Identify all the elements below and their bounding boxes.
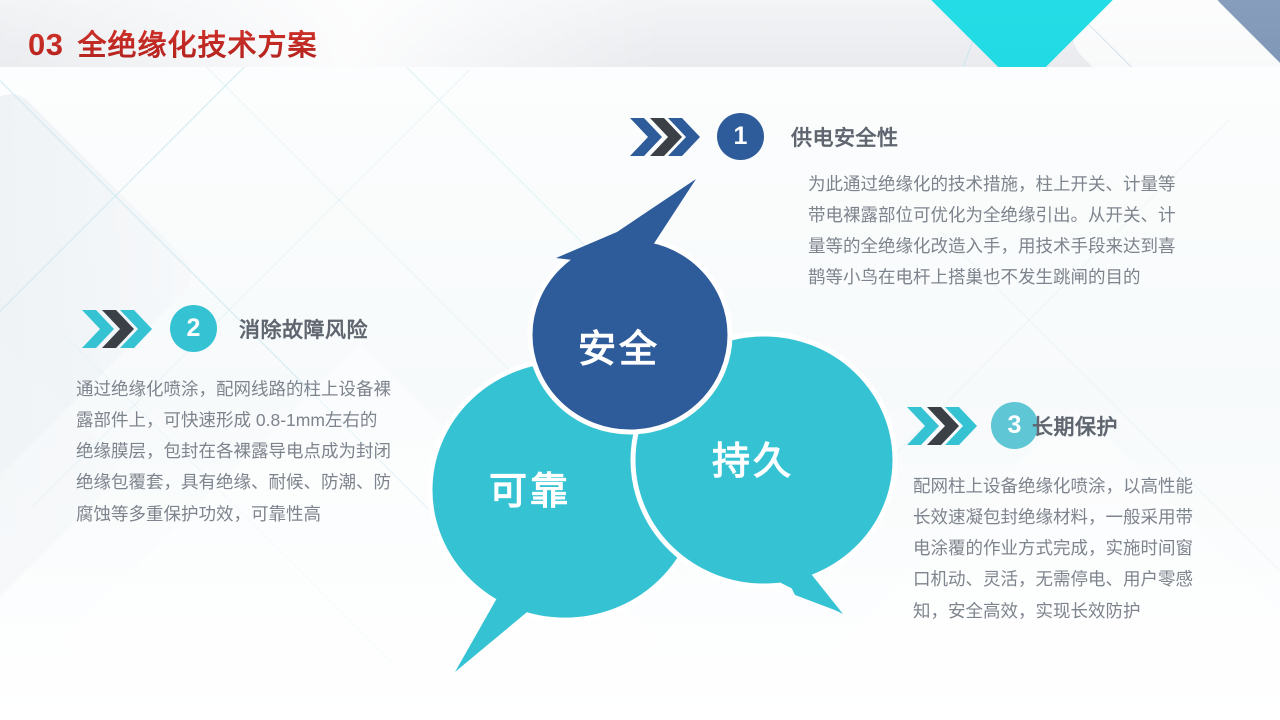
section-1-body: 为此通过绝缘化的技术措施，柱上开关、计量等带电裸露部位可优化为全绝缘引出。从开关…	[808, 169, 1176, 294]
section-1-number: 1	[717, 113, 764, 160]
bubble-label-reliable: 可靠	[489, 460, 571, 515]
section-1-header: 1 供电安全性	[628, 113, 1048, 160]
slide-title-number: 03	[28, 27, 63, 63]
chevron-triple-icon	[628, 114, 700, 160]
section-3-title: 长期保护	[1032, 411, 1118, 441]
bubble-label-safety: 安全	[578, 318, 660, 373]
section-3-header: 3 长期保护	[905, 402, 1205, 449]
section-1: 1 供电安全性 为此通过绝缘化的技术措施，柱上开关、计量等带电裸露部位可优化为全…	[628, 113, 1048, 294]
slide-canvas: 03 全绝缘化技术方案 安全 可靠 持久	[0, 0, 1280, 720]
slide-title: 03 全绝缘化技术方案	[28, 22, 318, 64]
section-2-title: 消除故障风险	[239, 314, 368, 344]
chevron-triple-icon	[905, 403, 977, 449]
section-2-header: 2 消除故障风险	[80, 305, 420, 352]
section-2: 2 消除故障风险 通过绝缘化喷涂，配网线路的柱上设备裸露部件上，可快速形成 0.…	[80, 305, 420, 530]
section-3-body: 配网柱上设备绝缘化喷涂，以高性能长效速凝包封绝缘材料，一般采用带电涂覆的作业方式…	[913, 471, 1193, 627]
bubble-label-durable: 持久	[712, 430, 794, 485]
section-1-title: 供电安全性	[791, 122, 899, 152]
section-2-body: 通过绝缘化喷涂，配网线路的柱上设备裸露部件上，可快速形成 0.8-1mm左右的绝…	[76, 374, 394, 530]
section-3-number: 3	[991, 402, 1038, 449]
slide-title-text: 全绝缘化技术方案	[77, 22, 317, 64]
section-3: 3 长期保护 配网柱上设备绝缘化喷涂，以高性能长效速凝包封绝缘材料，一般采用带电…	[905, 402, 1205, 627]
chevron-triple-icon	[80, 306, 152, 352]
section-2-number: 2	[170, 305, 217, 352]
